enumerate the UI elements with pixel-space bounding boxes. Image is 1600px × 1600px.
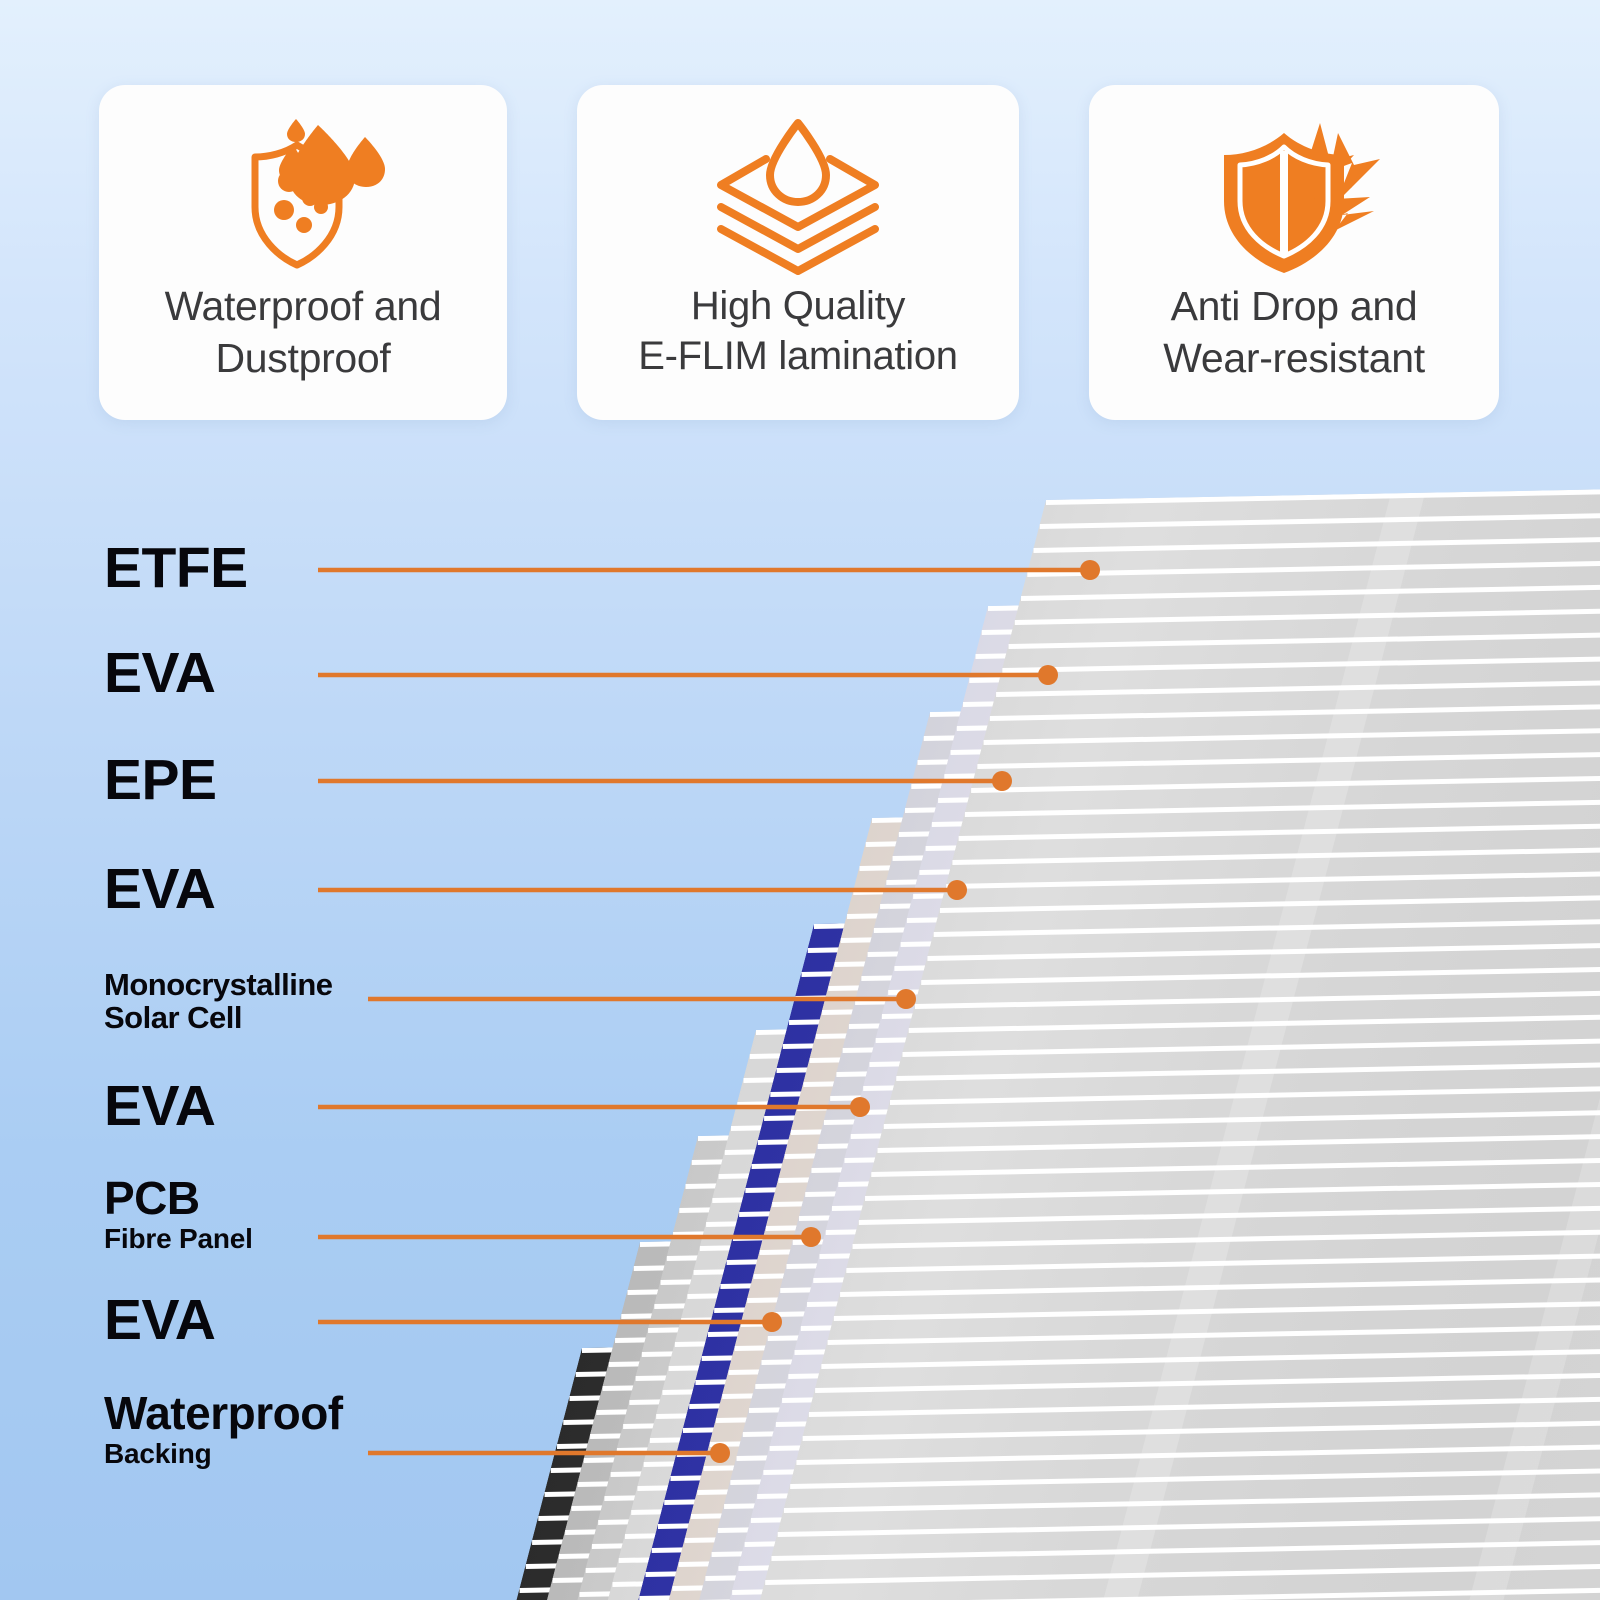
layer-title: EVA (104, 1292, 215, 1349)
layer-label-epe: EPE (104, 752, 217, 809)
feature-card-label: Waterproof and Dustproof (165, 281, 442, 384)
layer-title: Waterproof (104, 1390, 343, 1436)
layer-subtitle: Backing (104, 1438, 343, 1469)
feature-card-label: High Quality E-FLIM lamination (638, 281, 957, 382)
layer-subtitle: Fibre Panel (104, 1223, 253, 1254)
layer-label-waterproof: WaterproofBacking (104, 1390, 343, 1469)
layer-label-pcb: PCBFibre Panel (104, 1175, 253, 1254)
feature-card-eflim-lamination[interactable]: High Quality E-FLIM lamination (577, 85, 1019, 420)
layer-title: Monocrystalline Solar Cell (104, 968, 333, 1035)
feature-card-row: Waterproof and Dustproof High Quality E-… (99, 85, 1499, 420)
layer-title: EVA (104, 861, 215, 918)
layer-label-eva-1: EVA (104, 645, 215, 702)
feature-card-label: Anti Drop and Wear-resistant (1163, 281, 1425, 384)
layer-title: EVA (104, 1078, 215, 1135)
layers-water-drop-icon (703, 115, 893, 275)
shield-impact-icon (1202, 115, 1387, 275)
layer-title: PCB (104, 1175, 253, 1221)
layer-title: EPE (104, 752, 217, 809)
layer-label-eva-2: EVA (104, 861, 215, 918)
layer-title: ETFE (104, 540, 248, 597)
layer-label-solar-cell: Monocrystalline Solar Cell (104, 968, 333, 1035)
layer-title: EVA (104, 645, 215, 702)
feature-card-anti-drop[interactable]: Anti Drop and Wear-resistant (1089, 85, 1499, 420)
layer-label-eva-3: EVA (104, 1078, 215, 1135)
feature-card-waterproof-dustproof[interactable]: Waterproof and Dustproof (99, 85, 507, 420)
shield-water-drop-icon (213, 115, 393, 275)
layer-label-etfe: ETFE (104, 540, 248, 597)
layer-label-eva-4: EVA (104, 1292, 215, 1349)
